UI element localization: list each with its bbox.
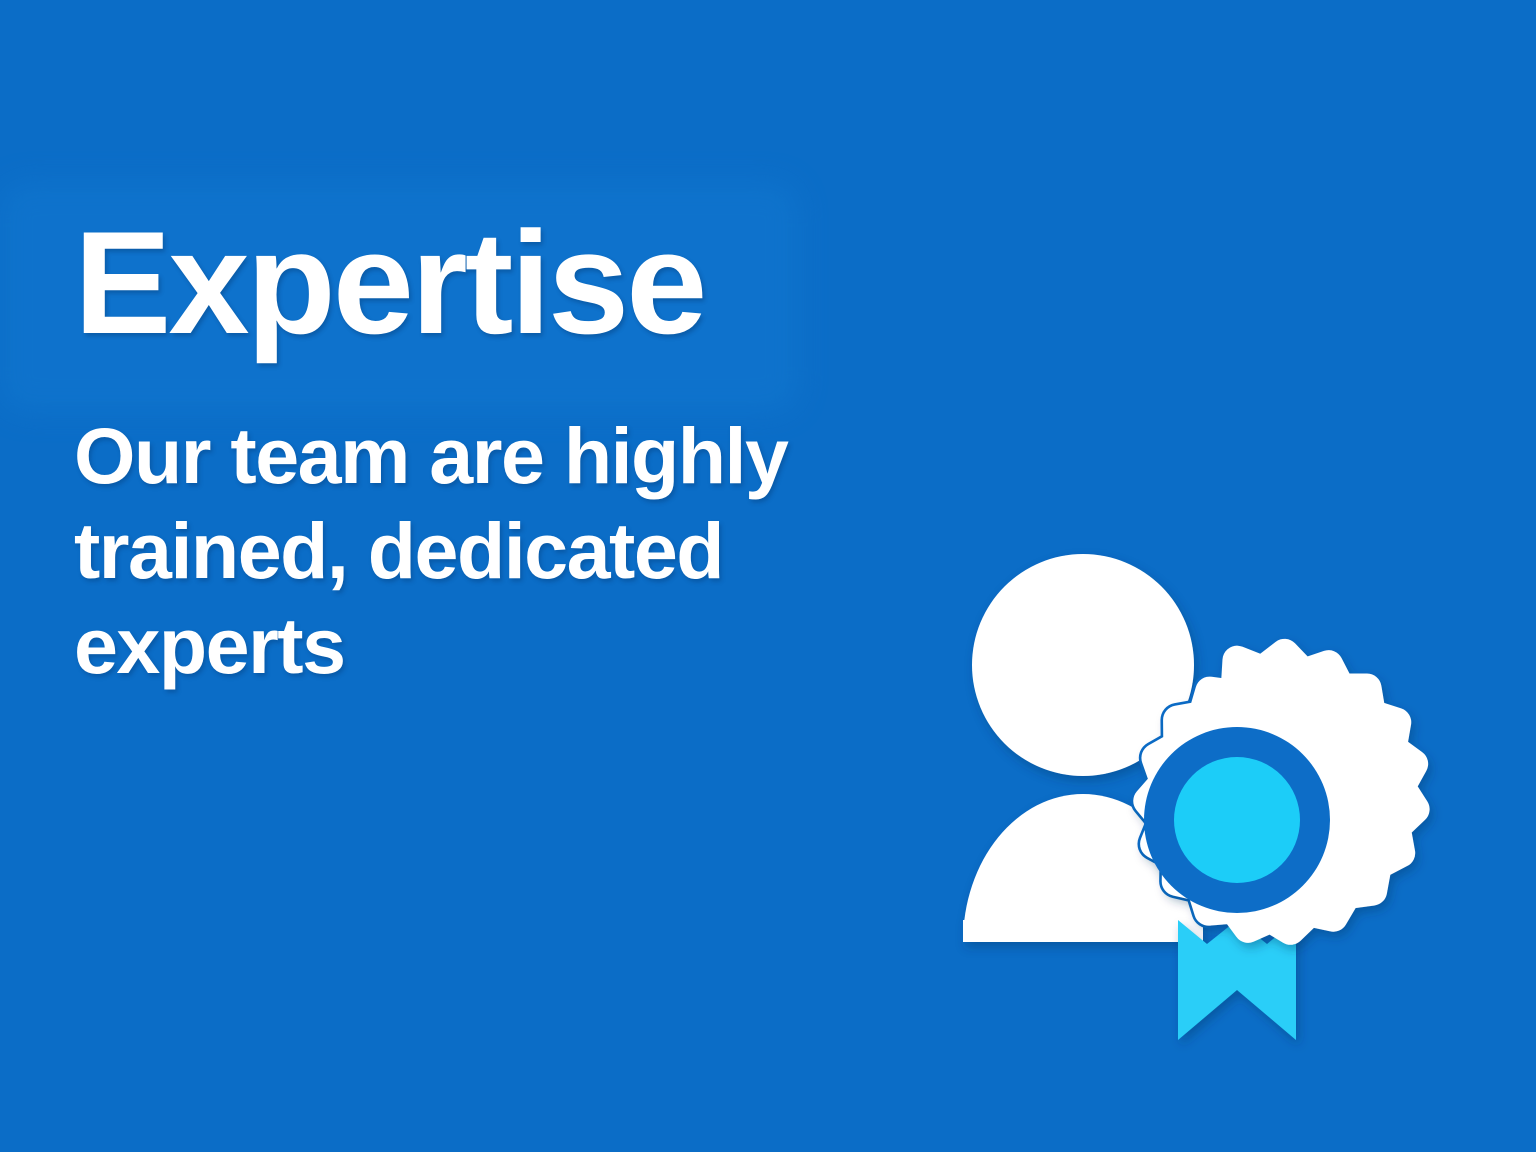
expert-person-award-badge-icon xyxy=(930,520,1470,1060)
text-block: Expertise Our team are highly trained, d… xyxy=(74,210,934,693)
page-title: Expertise xyxy=(74,210,934,356)
slide-canvas: Expertise Our team are highly trained, d… xyxy=(0,0,1536,1152)
subtitle-text: Our team are highly trained, dedicated e… xyxy=(74,408,904,693)
